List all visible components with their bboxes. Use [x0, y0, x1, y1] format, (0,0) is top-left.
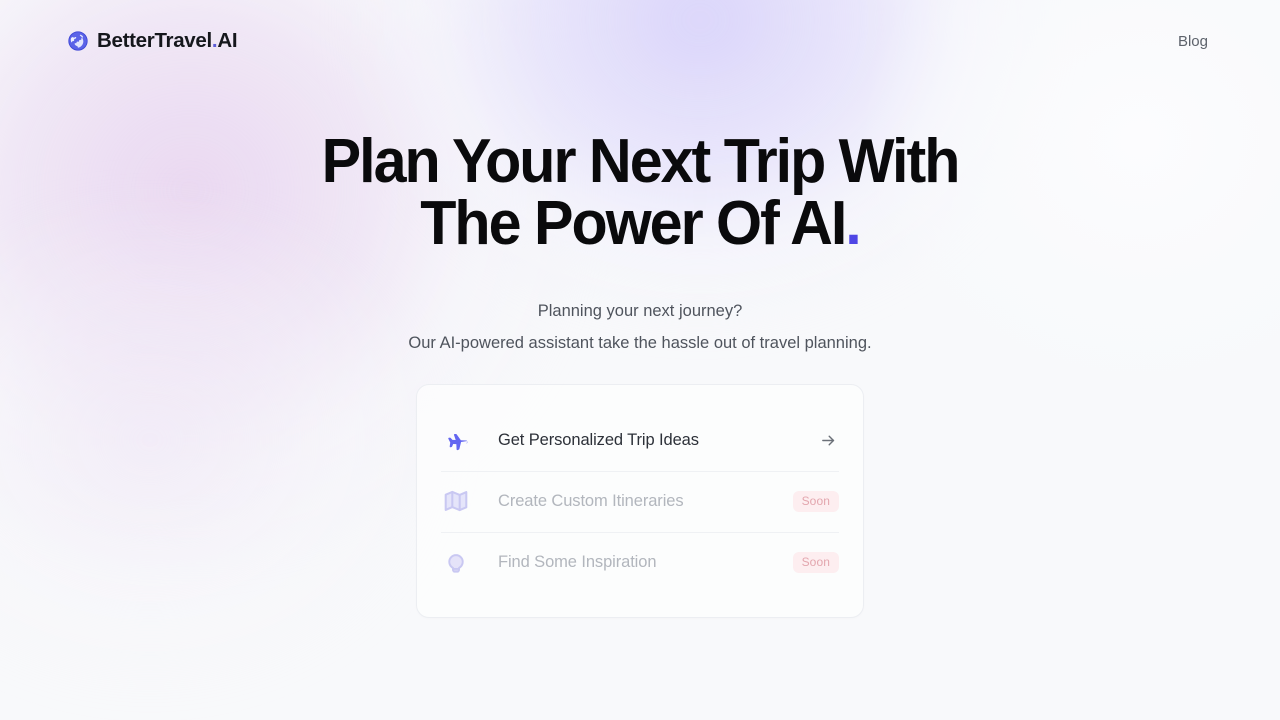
hero-subtitle-line-1: Planning your next journey? [0, 295, 1280, 327]
hero-subtitle-line-2: Our AI-powered assistant take the hassle… [0, 327, 1280, 359]
brand-logo[interactable]: BetterTravel.AI [68, 31, 237, 52]
option-row-inspiration: Find Some Inspiration Soon [441, 532, 839, 593]
options-card: Get Personalized Trip Ideas Create Custo… [416, 384, 864, 618]
map-icon [441, 488, 475, 514]
option-label-trip-ideas: Get Personalized Trip Ideas [475, 431, 817, 450]
page-title-line-1: Plan Your Next Trip With [29, 131, 1251, 193]
brand-name-suffix: AI [217, 29, 237, 52]
page-title-line-2-text: The Power Of AI [420, 189, 845, 258]
option-row-custom-itineraries: Create Custom Itineraries Soon [441, 471, 839, 532]
airplane-icon [441, 427, 475, 453]
brand-name-text: BetterTravel [97, 29, 212, 52]
page-root: BetterTravel.AI Blog Plan Your Next Trip… [0, 0, 1280, 720]
page-title-line-2: The Power Of AI. [29, 193, 1251, 255]
globe-icon [68, 31, 88, 51]
status-badge-soon-inspiration: Soon [793, 552, 839, 573]
site-header: BetterTravel.AI Blog [0, 0, 1280, 82]
title-accent-dot: . [845, 189, 859, 258]
option-label-inspiration: Find Some Inspiration [475, 553, 793, 572]
brand-name: BetterTravel.AI [97, 31, 237, 52]
page-title: Plan Your Next Trip With The Power Of AI… [29, 131, 1251, 255]
lightbulb-icon [441, 549, 475, 575]
status-badge-soon-itineraries: Soon [793, 491, 839, 512]
arrow-right-icon[interactable] [817, 432, 839, 449]
option-row-trip-ideas[interactable]: Get Personalized Trip Ideas [441, 410, 839, 471]
hero-section: Plan Your Next Trip With The Power Of AI… [0, 131, 1280, 359]
option-label-custom-itineraries: Create Custom Itineraries [475, 492, 793, 511]
nav-link-blog[interactable]: Blog [1178, 34, 1208, 49]
hero-subtitle: Planning your next journey? Our AI-power… [0, 295, 1280, 359]
